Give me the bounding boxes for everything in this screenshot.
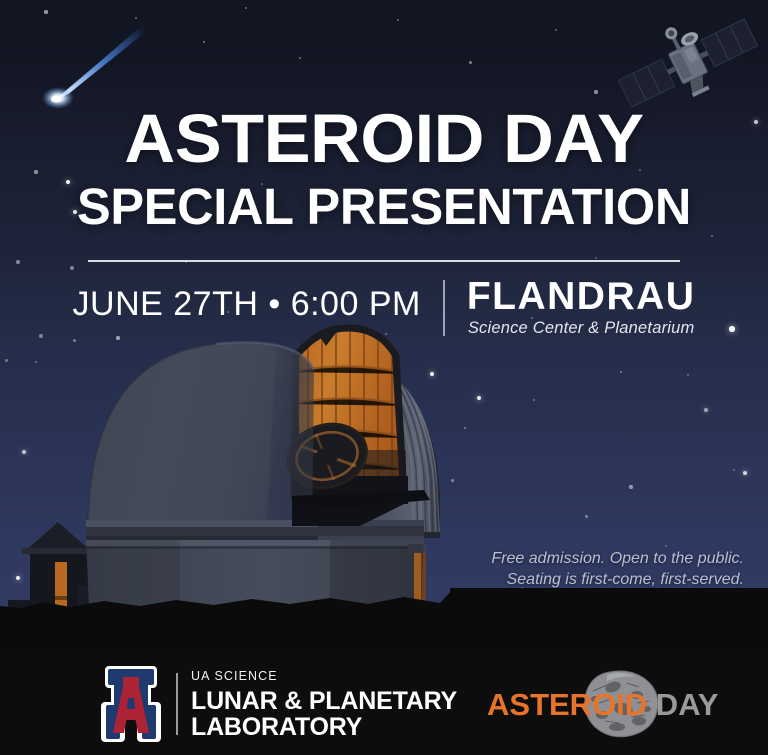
ua-lpl-text: UA SCIENCE LUNAR & PLANETARY LABORATORY — [191, 669, 457, 740]
venue-tagline: Science Center & Planetarium — [467, 318, 696, 338]
comet-icon — [34, 22, 154, 112]
admission-note: Free admission. Open to the public. Seat… — [324, 548, 744, 590]
footer-bar: UA SCIENCE LUNAR & PLANETARY LABORATORY — [0, 655, 768, 755]
lockup-divider — [176, 673, 178, 735]
vertical-separator — [443, 280, 445, 336]
asteroid-day-wordmark: ASTEROID DAY — [487, 687, 692, 723]
divider-rule — [88, 260, 680, 262]
star — [70, 266, 73, 269]
page-subtitle: SPECIAL PRESENTATION — [4, 179, 764, 235]
lpl-line-2: LABORATORY — [191, 714, 457, 740]
day-word: DAY — [647, 687, 718, 722]
star — [469, 61, 472, 64]
star — [16, 260, 20, 264]
event-info-row: JUNE 27TH • 6:00 PM FLANDRAU Science Cen… — [0, 276, 768, 340]
headline-block: ASTEROID DAY SPECIAL PRESENTATION — [0, 104, 768, 235]
asteroid-day-logo: ASTEROID DAY — [487, 665, 692, 743]
venue-lockup: FLANDRAU Science Center & Planetarium — [445, 276, 696, 338]
venue-name: FLANDRAU — [467, 276, 696, 317]
page-title: ASTEROID DAY — [0, 104, 768, 174]
ua-science-eyebrow: UA SCIENCE — [191, 669, 457, 684]
asteroid-word: ASTEROID — [487, 687, 647, 722]
university-of-arizona-a-logo — [95, 664, 167, 744]
admission-line-1: Free admission. Open to the public. — [324, 548, 744, 569]
lpl-line-1: LUNAR & PLANETARY — [191, 688, 457, 714]
star — [44, 10, 47, 13]
event-datetime: JUNE 27TH • 6:00 PM — [73, 276, 443, 326]
ua-lpl-lockup: UA SCIENCE LUNAR & PLANETARY LABORATORY — [95, 660, 457, 748]
star — [594, 90, 597, 93]
admission-line-2: Seating is first-come, first-served. — [324, 569, 744, 590]
asteroid-day-poster: ASTEROID DAY SPECIAL PRESENTATION JUNE 2… — [0, 0, 768, 755]
